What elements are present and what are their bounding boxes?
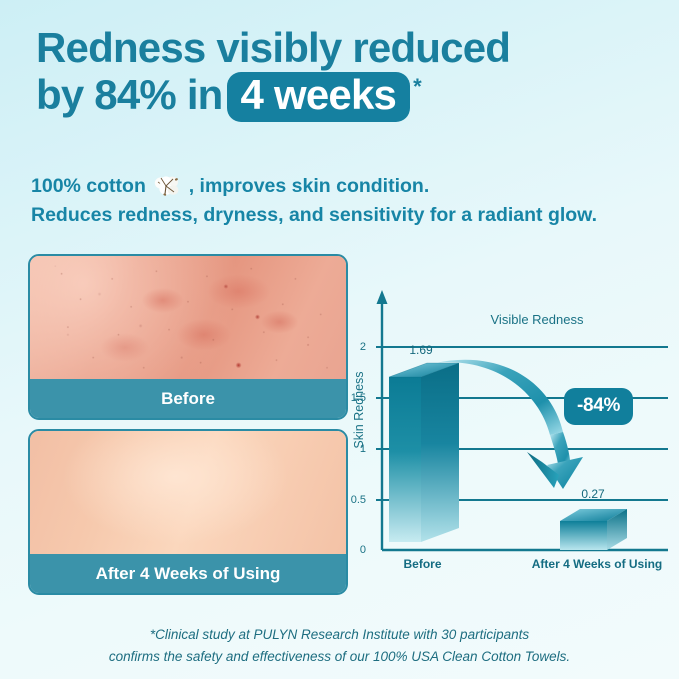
reduction-badge: -84% — [564, 388, 633, 425]
headline-line-1: Redness visibly reduced — [36, 24, 656, 71]
ytick-0-5: 0.5 — [344, 494, 366, 506]
bar-value-before: 1.69 — [390, 343, 452, 357]
y-axis-title: Skin Redness — [352, 355, 366, 465]
before-photo-label: Before — [30, 379, 346, 418]
footnote-line-2: confirms the safety and effectiveness of… — [0, 646, 679, 668]
after-photo-card: After 4 Weeks of Using — [28, 429, 348, 595]
subtitle-line-2: Reduces redness, dryness, and sensitivit… — [31, 201, 661, 230]
promo-infographic: Redness visibly reduced by 84% in4 weeks… — [0, 0, 679, 679]
headline-asterisk: * — [413, 74, 421, 99]
bar-value-after: 0.27 — [560, 487, 626, 501]
bar-before — [389, 363, 459, 542]
chart-axes — [342, 285, 676, 585]
footnote: *Clinical study at PULYN Research Instit… — [0, 624, 679, 669]
footnote-line-1: *Clinical study at PULYN Research Instit… — [0, 624, 679, 646]
xtick-before: Before — [375, 557, 470, 571]
cotton-boll-icon — [152, 173, 182, 199]
headline-line-2: by 84% in4 weeks* — [36, 71, 656, 122]
ytick-0: 0 — [344, 544, 366, 556]
bar-after — [560, 509, 627, 550]
before-skin-photo — [30, 256, 346, 383]
ytick-2: 2 — [344, 341, 366, 353]
page-title: Redness visibly reduced by 84% in4 weeks… — [36, 24, 656, 122]
subtitle-line-1-prefix: 100% cotton — [31, 175, 146, 197]
after-skin-photo — [30, 431, 346, 558]
subtitle-line-1: 100% cotton — [31, 172, 661, 201]
headline-line-2-prefix: by 84% in — [36, 71, 223, 118]
xtick-after: After 4 Weeks of Using — [527, 557, 667, 571]
subtitle-line-1-suffix: , improves skin condition. — [189, 175, 430, 197]
headline-highlight-pill: 4 weeks — [227, 72, 411, 122]
before-photo-card: Before — [28, 254, 348, 420]
after-photo-label: After 4 Weeks of Using — [30, 554, 346, 593]
redness-bar-chart: Visible Redness — [342, 285, 676, 585]
subtitle: 100% cotton — [31, 172, 661, 231]
